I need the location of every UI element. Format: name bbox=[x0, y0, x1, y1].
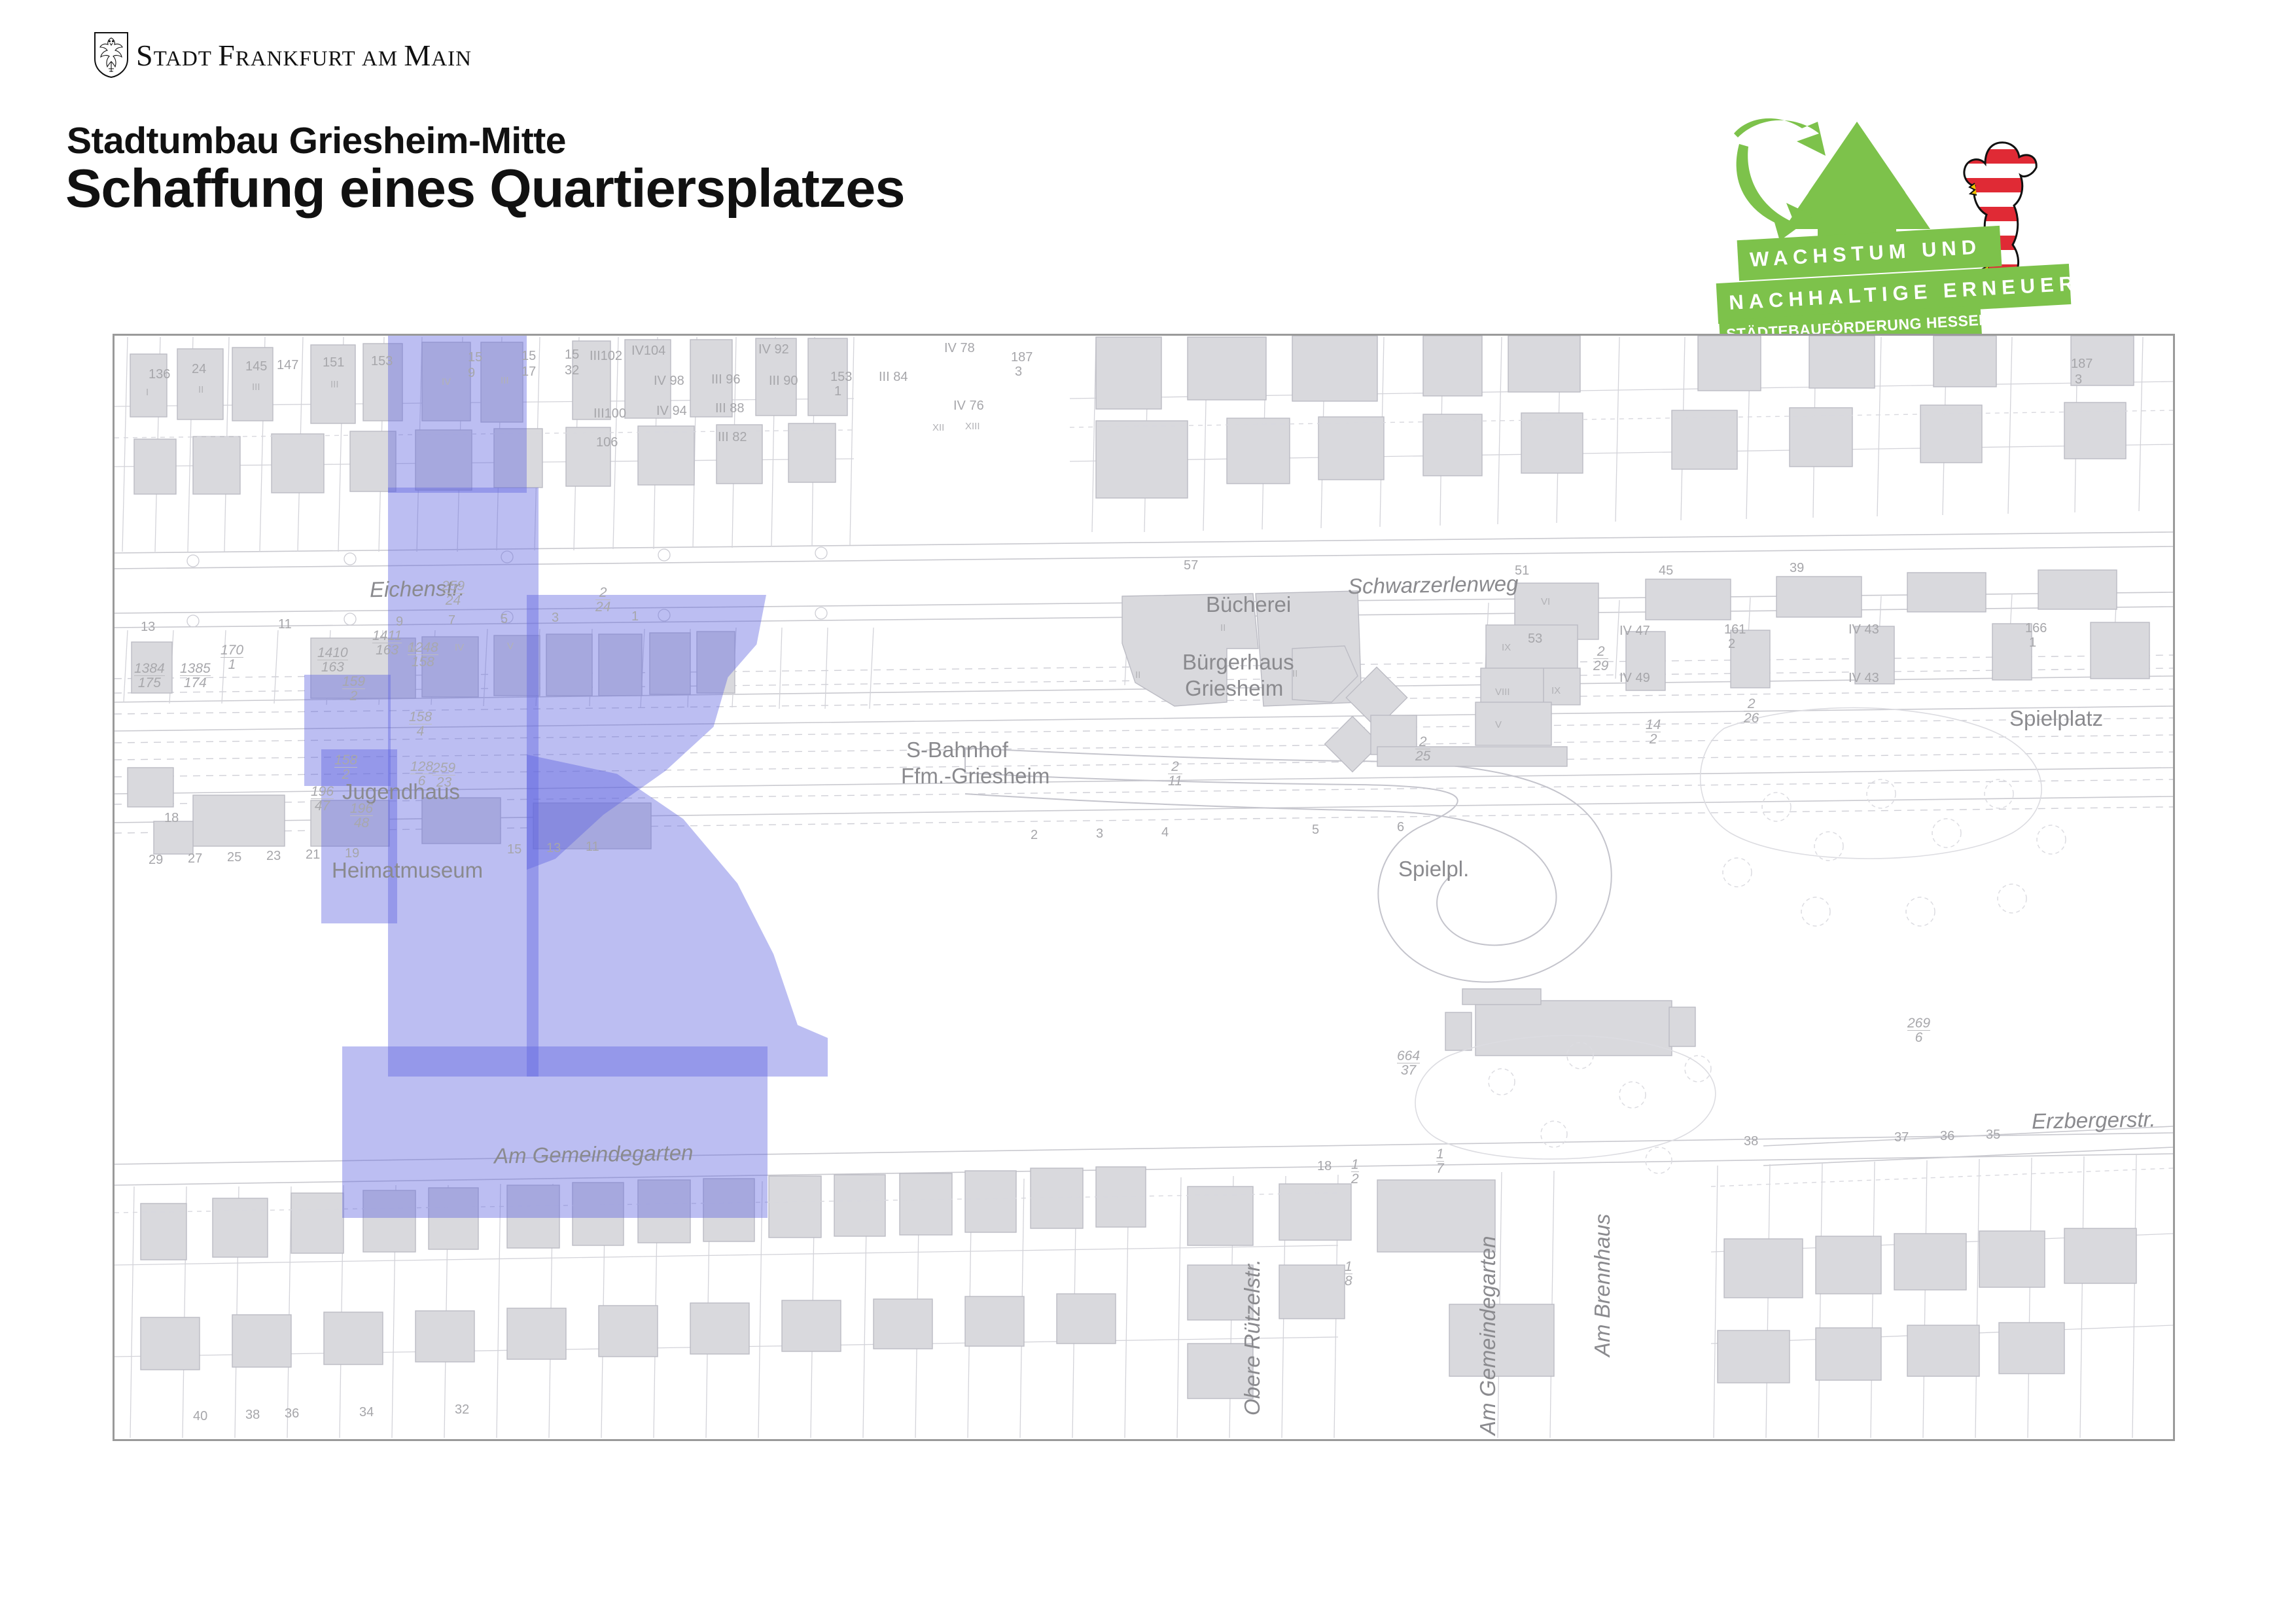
quartiersplatz-highlight-south bbox=[342, 1046, 768, 1218]
cadastral-map[interactable]: Eichenstr. Schwarzerlenweg Am Gemeindega… bbox=[113, 334, 2175, 1441]
quartiersplatz-highlight-main bbox=[388, 488, 539, 1077]
footer-logo-strip: Bundesministerium für Wohnen, Stadtentwi… bbox=[0, 1450, 2296, 1623]
quartiersplatz-highlight-north bbox=[388, 336, 527, 493]
poster-page: STADT FRANKFURT AM MAIN Stadtumbau Gries… bbox=[0, 0, 2296, 1623]
city-logo: STADT FRANKFURT AM MAIN bbox=[93, 31, 472, 79]
subtitle: Stadtumbau Griesheim-Mitte bbox=[67, 119, 566, 162]
city-wordmark: STADT FRANKFURT AM MAIN bbox=[136, 38, 472, 73]
frankfurt-eagle-crest-icon bbox=[93, 31, 130, 79]
page-title: Schaffung eines Quartiersplatzes bbox=[65, 157, 905, 220]
quartiersplatz-highlight-west-lot2 bbox=[321, 749, 397, 923]
